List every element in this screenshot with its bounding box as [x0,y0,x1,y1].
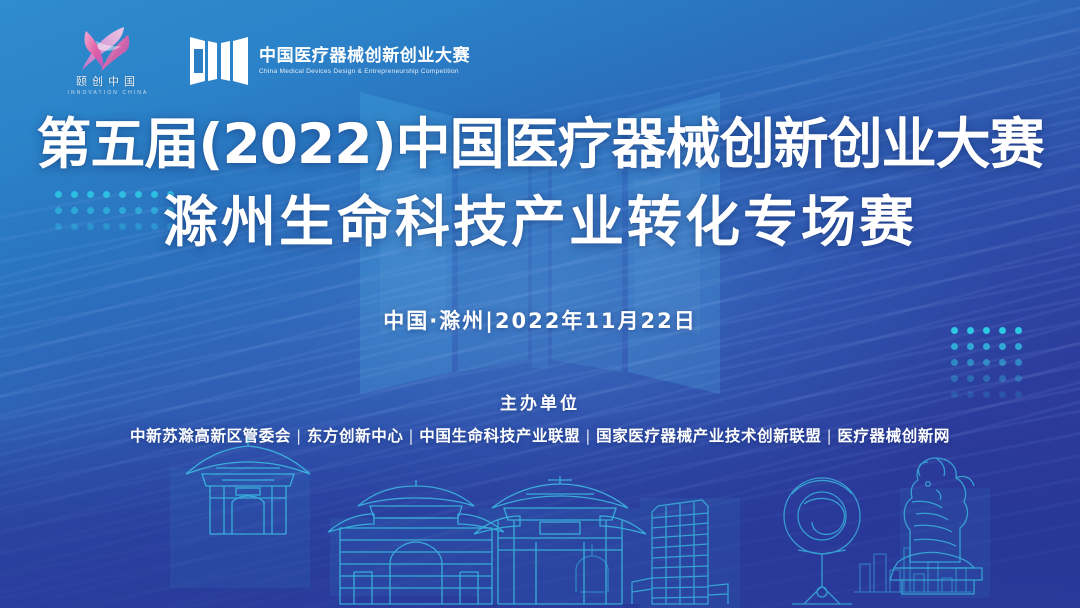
page-title-line2: 滁州生命科技产业转化专场赛 [0,190,1080,254]
competition-logo: 中国医疗器械创新创业大赛 China Medical Devices Desig… [190,33,470,89]
open-gate-icon [190,33,248,89]
organizer-label: 主办单位 [0,389,1080,414]
event-meta: 中国·滁州|2022年11月22日 [0,305,1080,335]
innovation-logo-en: INNOVATION CHINA [68,90,149,96]
innovation-logo-cn: 颐创中国 [76,73,140,89]
competition-logo-cn: 中国医疗器械创新创业大赛 [259,46,470,66]
event-poster: 颐创中国 INNOVATION CHINA 中国医疗器械创新创业大赛 China… [0,0,1080,608]
ring-sculpture-icon [784,478,860,604]
competition-logo-en: China Medical Devices Design & Entrepren… [259,68,470,75]
city-skyline-illustration [0,428,1080,608]
innovation-bird-icon [66,25,150,71]
innovation-china-logo: 颐创中国 INNOVATION CHINA [60,25,156,96]
header-logos: 颐创中国 INNOVATION CHINA 中国医疗器械创新创业大赛 China… [60,25,470,96]
dot-grid-right-icon [951,327,1022,398]
title-block: 第五届(2022)中国医疗器械创新创业大赛 滁州生命科技产业转化专场赛 [0,112,1080,254]
page-title-line1: 第五届(2022)中国医疗器械创新创业大赛 [0,112,1080,176]
